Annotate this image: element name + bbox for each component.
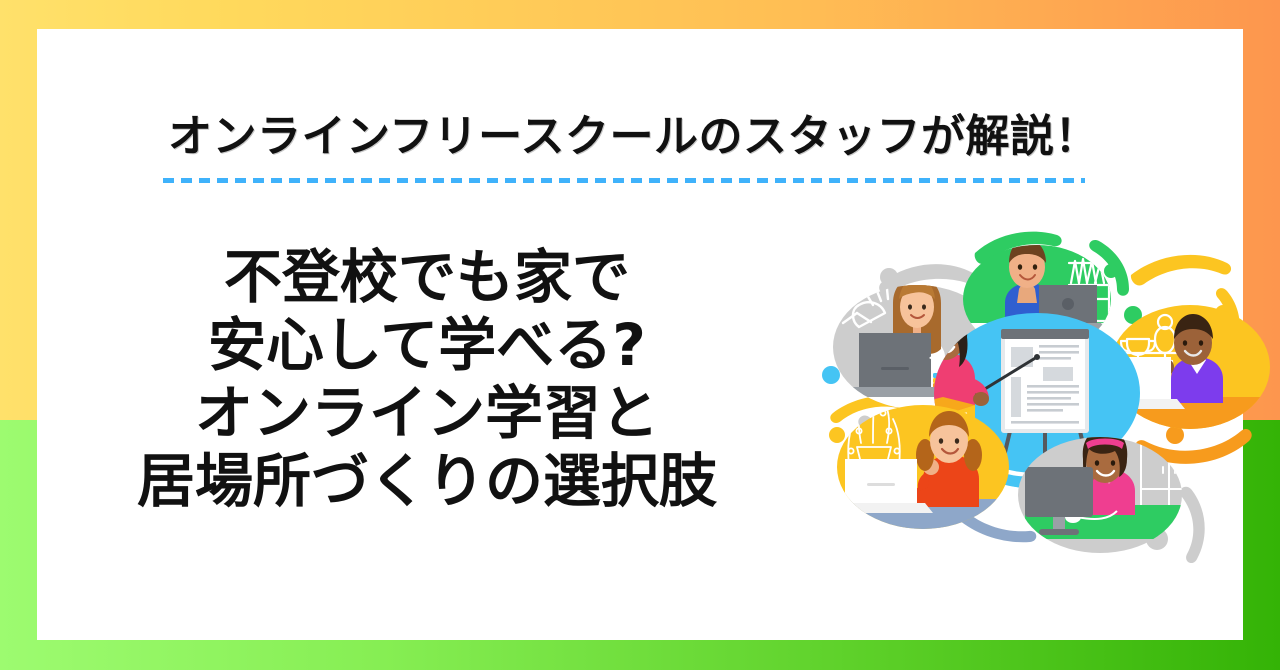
title-line-1: 不登校でも家で	[97, 244, 757, 312]
title-line-2: 安心して学べる?	[97, 312, 757, 380]
eyebrow-text: オンラインフリースクールのスタッフが解説！	[168, 109, 1108, 164]
divider-dashed	[163, 178, 1085, 183]
title-line-4: 居場所づくりの選択肢	[97, 448, 757, 516]
page-title: 不登校でも家で 安心して学べる? オンライン学習と 居場所づくりの選択肢	[97, 244, 757, 515]
title-line-3: オンライン学習と	[97, 380, 757, 448]
thumbnail-canvas: オンラインフリースクールのスタッフが解説！ 不登校でも家で 安心して学べる? オ…	[0, 0, 1280, 670]
content-card: オンラインフリースクールのスタッフが解説！ 不登校でも家で 安心して学べる? オ…	[37, 29, 1243, 640]
online-learning-illustration	[815, 227, 1280, 573]
